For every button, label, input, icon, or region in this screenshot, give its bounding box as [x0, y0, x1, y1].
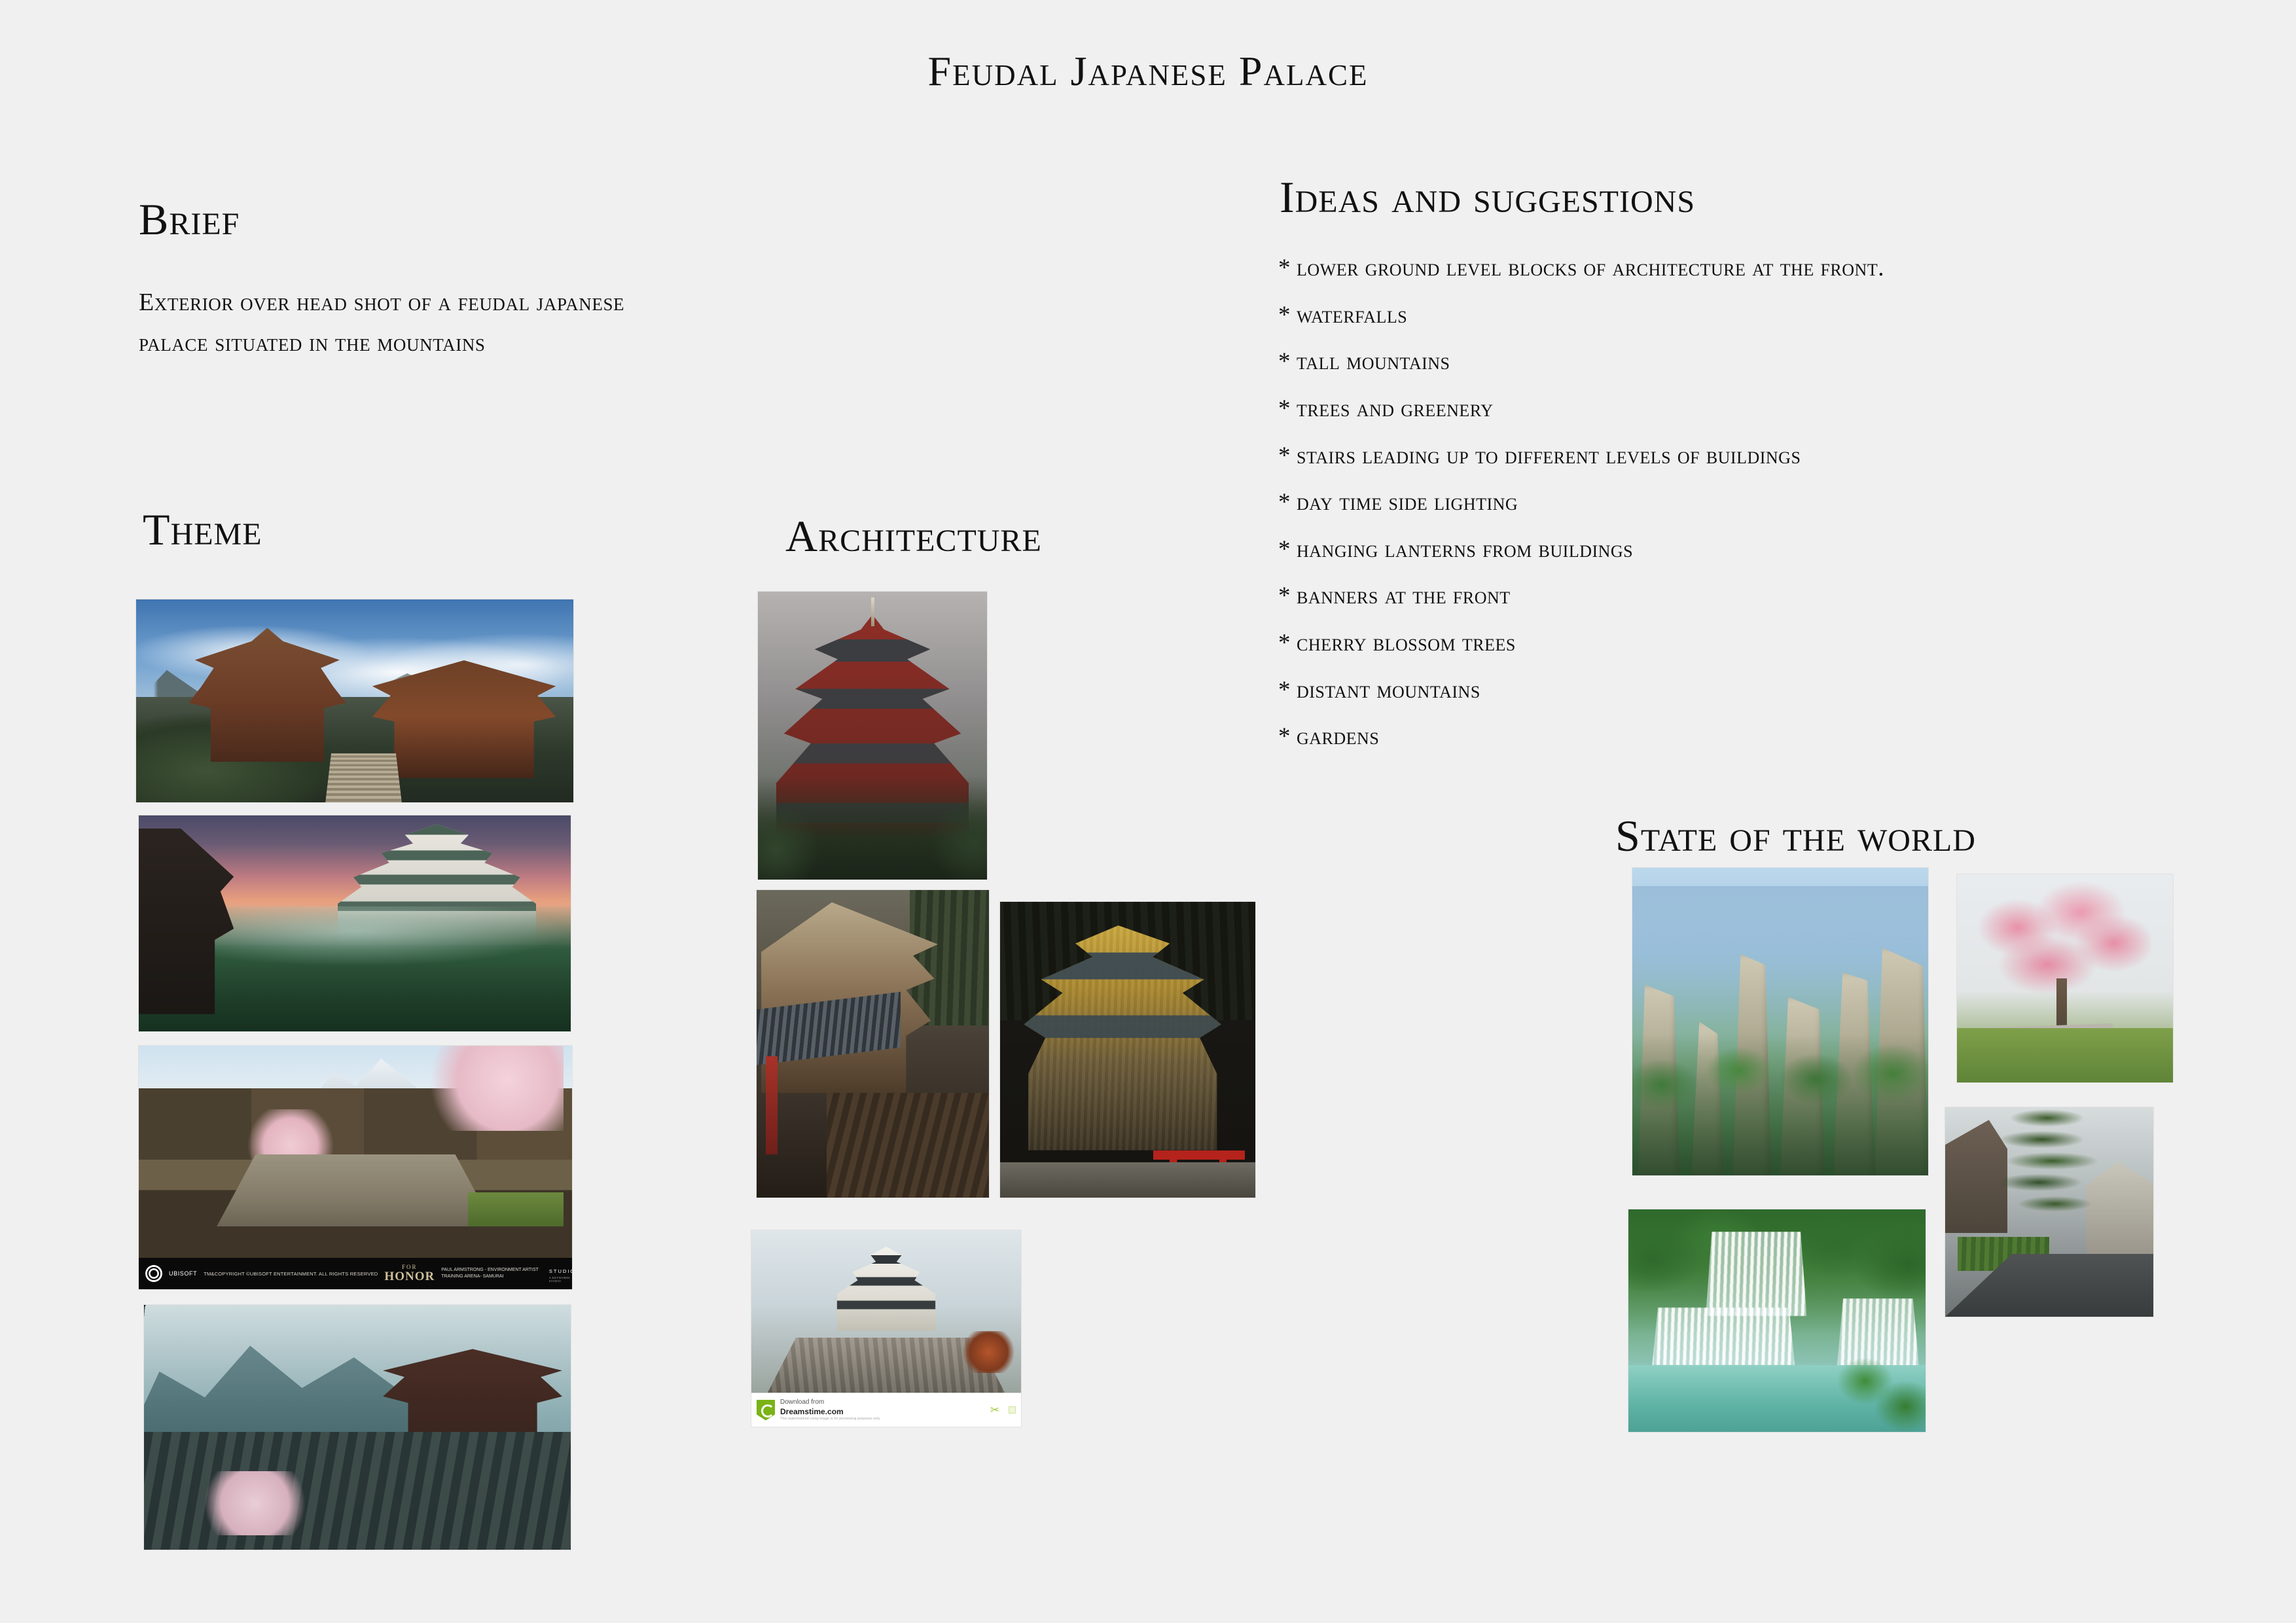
- idea-item: *waterfalls: [1278, 294, 2123, 336]
- idea-item-label: lower ground level blocks of architectur…: [1297, 255, 1884, 281]
- bullet-star-icon: *: [1278, 247, 1297, 289]
- brief-line-2: palace situated in the mountains: [139, 323, 924, 364]
- state-image-4[interactable]: [1628, 1209, 1926, 1432]
- ubisoft-wordmark: UBISOFT: [169, 1270, 197, 1277]
- idea-item-label: waterfalls: [1297, 302, 1407, 329]
- foreground-bush-shape: [1825, 1347, 1926, 1432]
- bullet-star-icon: *: [1278, 622, 1297, 664]
- ideas-heading: Ideas and suggestions: [1280, 171, 1695, 223]
- brief-line-1: Exterior over head shot of a feudal japa…: [139, 283, 924, 323]
- tree-canopy-layer: [1632, 1034, 1928, 1175]
- idea-item-label: distant mountains: [1297, 677, 1480, 704]
- dreamstime-logo-icon: [757, 1400, 775, 1421]
- dreamstime-line-3: This watermarked comp image is for previ…: [780, 1417, 880, 1421]
- idea-item: *stairs leading up to different levels o…: [1278, 435, 2123, 477]
- scissors-icon: ✂: [990, 1404, 999, 1417]
- theme-image-3[interactable]: UBISOFT TM&COPYRIGHT ©UBISOFT ENTERTAINM…: [139, 1046, 572, 1289]
- autumn-maple-shape: [961, 1331, 1015, 1373]
- waterfall-middle: [1652, 1308, 1795, 1365]
- theme-heading: Theme: [143, 504, 262, 556]
- bullet-star-icon: *: [1278, 341, 1297, 383]
- theme-image-2[interactable]: [139, 815, 571, 1031]
- bare-branches-overlay: [144, 1305, 408, 1398]
- architecture-image-1[interactable]: [758, 592, 987, 880]
- studio-sub: A KEYWORDS STUDIO: [549, 1276, 572, 1283]
- bullet-star-icon: *: [1278, 435, 1297, 477]
- bullet-star-icon: *: [1278, 716, 1297, 758]
- idea-item: *distant mountains: [1278, 669, 2123, 711]
- copyright-text: TM&COPYRIGHT ©UBISOFT ENTERTAINMENT. ALL…: [204, 1271, 378, 1277]
- cherry-blossom-right: [416, 1046, 564, 1131]
- idea-item-label: hanging lanterns from buildings: [1297, 536, 1633, 563]
- bullet-star-icon: *: [1278, 482, 1297, 524]
- idea-item: *cherry blossom trees: [1278, 622, 2123, 664]
- artist-credit-line-1: PAUL ARMSTRONG - ENVIRONMENT ARTIST: [441, 1267, 539, 1274]
- bullet-star-icon: *: [1278, 529, 1297, 571]
- state-image-1[interactable]: [1632, 868, 1928, 1175]
- idea-item: *tall mountains: [1278, 341, 2123, 383]
- page-title: Feudal Japanese Palace: [0, 47, 2296, 96]
- ubisoft-logo-icon: [145, 1265, 162, 1282]
- idea-item: *banners at the front: [1278, 575, 2123, 617]
- blossom-tree-shape: [195, 1471, 315, 1535]
- bullet-star-icon: *: [1278, 575, 1297, 617]
- courtyard-shape: [217, 1154, 494, 1226]
- idea-item-label: tall mountains: [1297, 348, 1450, 375]
- idea-item-label: cherry blossom trees: [1297, 630, 1516, 656]
- castle-photo-area: [751, 1230, 1021, 1393]
- dreamstime-line-2: Dreamstime.com: [780, 1407, 880, 1417]
- tree-surround-layer: [758, 776, 987, 880]
- idea-item-label: gardens: [1297, 723, 1379, 750]
- for-honor-line-2: HONOR: [384, 1270, 435, 1283]
- idea-item-label: day time side lighting: [1297, 489, 1518, 516]
- for-honor-logo: FOR HONOR: [384, 1264, 435, 1283]
- brief-text: Exterior over head shot of a feudal japa…: [139, 283, 924, 363]
- studio-gobo-logo: STUDIO A KEYWORDS STUDIO: [549, 1264, 572, 1283]
- dreamstime-line-1: Download from: [780, 1399, 880, 1407]
- idea-item-label: banners at the front: [1297, 582, 1511, 609]
- lawn-layer: [1957, 1028, 2173, 1082]
- niwaki-pine-shape: [1982, 1107, 2111, 1241]
- idea-item: *lower ground level blocks of architectu…: [1278, 247, 2123, 289]
- forest-backdrop-layer: [910, 890, 989, 1026]
- state-image-2[interactable]: [1957, 874, 2173, 1082]
- theme-image-4[interactable]: [144, 1305, 571, 1550]
- bullet-star-icon: *: [1278, 294, 1297, 336]
- timber-deck-layer: [827, 1093, 990, 1198]
- red-pillar-shape: [766, 1056, 778, 1154]
- idea-item: *trees and greenery: [1278, 388, 2123, 430]
- game-screenshot-area: [139, 1046, 572, 1258]
- dreamstime-text: Download from Dreamstime.com This waterm…: [780, 1399, 880, 1421]
- brief-heading: Brief: [139, 194, 240, 245]
- lawn-shape: [468, 1192, 564, 1226]
- finial-spire-shape: [871, 597, 875, 626]
- architecture-image-2[interactable]: [757, 890, 989, 1198]
- idea-item: *hanging lanterns from buildings: [1278, 529, 2123, 571]
- bullet-star-icon: *: [1278, 669, 1297, 711]
- pavement-layer: [1000, 1162, 1255, 1198]
- architecture-image-3[interactable]: [1000, 902, 1255, 1198]
- studio-word: STUDIO: [549, 1268, 572, 1274]
- artist-credit: PAUL ARMSTRONG - ENVIRONMENT ARTIST TRAI…: [441, 1267, 539, 1281]
- architecture-image-4[interactable]: Download from Dreamstime.com This waterm…: [751, 1230, 1021, 1427]
- idea-item: *gardens: [1278, 716, 2123, 758]
- state-image-3[interactable]: [1945, 1107, 2153, 1317]
- architecture-heading: Architecture: [785, 510, 1042, 562]
- state-of-the-world-heading: State of the world: [1615, 810, 1976, 862]
- artist-credit-line-2: TRAINING ARENA- SAMURAI: [441, 1274, 539, 1281]
- castle-roofs-shape: [821, 1247, 951, 1331]
- dreamstime-watermark-bar: Download from Dreamstime.com This waterm…: [751, 1393, 1021, 1427]
- idea-item: *day time side lighting: [1278, 482, 2123, 524]
- watermark-badge-1: [1009, 1406, 1016, 1414]
- ideas-list: *lower ground level blocks of architectu…: [1278, 247, 2123, 763]
- idea-item-label: trees and greenery: [1297, 395, 1494, 422]
- for-honor-watermark-bar: UBISOFT TM&COPYRIGHT ©UBISOFT ENTERTAINM…: [139, 1258, 572, 1289]
- idea-item-label: stairs leading up to different levels of…: [1297, 442, 1801, 469]
- bullet-star-icon: *: [1278, 388, 1297, 430]
- stairs-shape: [325, 754, 401, 802]
- theme-image-1[interactable]: [136, 599, 573, 802]
- waterfall-upper: [1706, 1232, 1806, 1316]
